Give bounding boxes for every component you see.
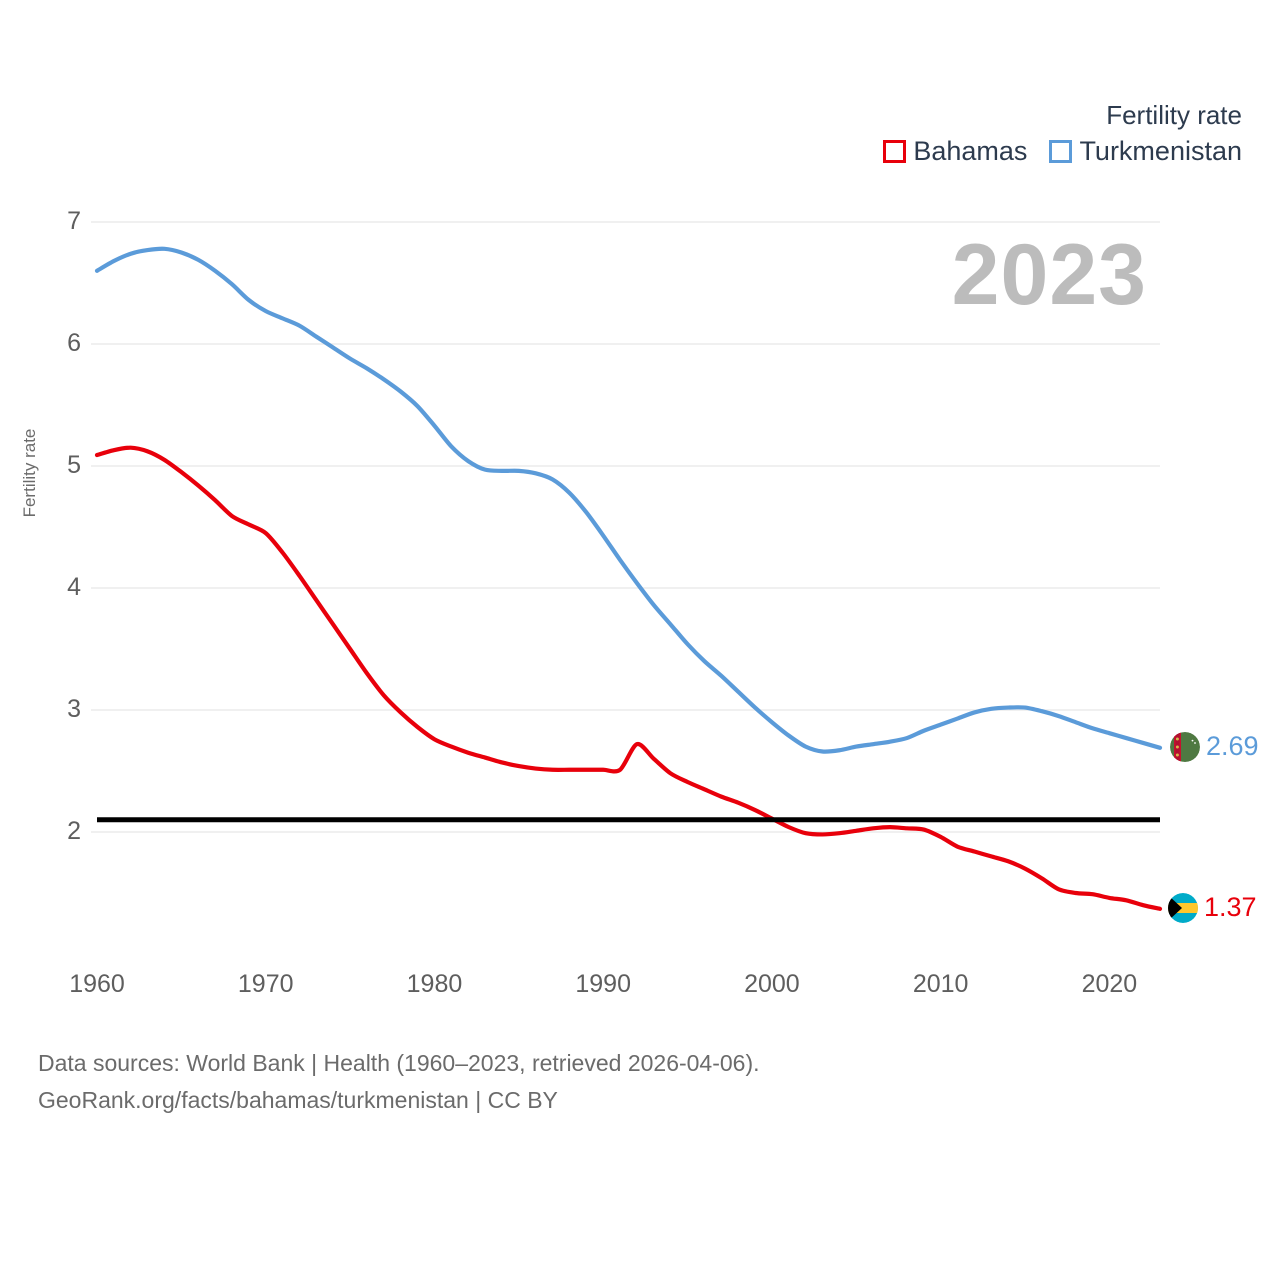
y-tick-7: 7 xyxy=(67,209,81,234)
x-tick-1990: 1990 xyxy=(558,972,648,997)
y-tick-4: 4 xyxy=(67,575,81,600)
footer-line-2: GeoRank.org/facts/bahamas/turkmenistan |… xyxy=(38,1082,760,1119)
end-value-bahamas: 1.37 xyxy=(1204,894,1257,921)
end-label-turkmenistan: 2.69 xyxy=(1170,732,1259,762)
bahamas-flag-icon xyxy=(1168,893,1198,923)
chart-canvas: Fertility rate Bahamas Turkmenistan 2023… xyxy=(0,0,1280,1280)
y-tick-5: 5 xyxy=(67,453,81,478)
x-tick-1970: 1970 xyxy=(221,972,311,997)
x-tick-1960: 1960 xyxy=(52,972,142,997)
turkmenistan-flag-icon xyxy=(1170,732,1200,762)
footer-sources: Data sources: World Bank | Health (1960–… xyxy=(38,1045,760,1119)
x-tick-2010: 2010 xyxy=(896,972,986,997)
footer-line-1: Data sources: World Bank | Health (1960–… xyxy=(38,1045,760,1082)
x-tick-1980: 1980 xyxy=(389,972,479,997)
y-tick-6: 6 xyxy=(67,331,81,356)
y-tick-3: 3 xyxy=(67,697,81,722)
x-tick-2020: 2020 xyxy=(1064,972,1154,997)
series-line-bahamas xyxy=(97,448,1160,909)
end-value-turkmenistan: 2.69 xyxy=(1206,733,1259,760)
series-line-turkmenistan xyxy=(97,249,1160,752)
end-label-bahamas: 1.37 xyxy=(1168,893,1257,923)
y-tick-2: 2 xyxy=(67,819,81,844)
x-tick-2000: 2000 xyxy=(727,972,817,997)
